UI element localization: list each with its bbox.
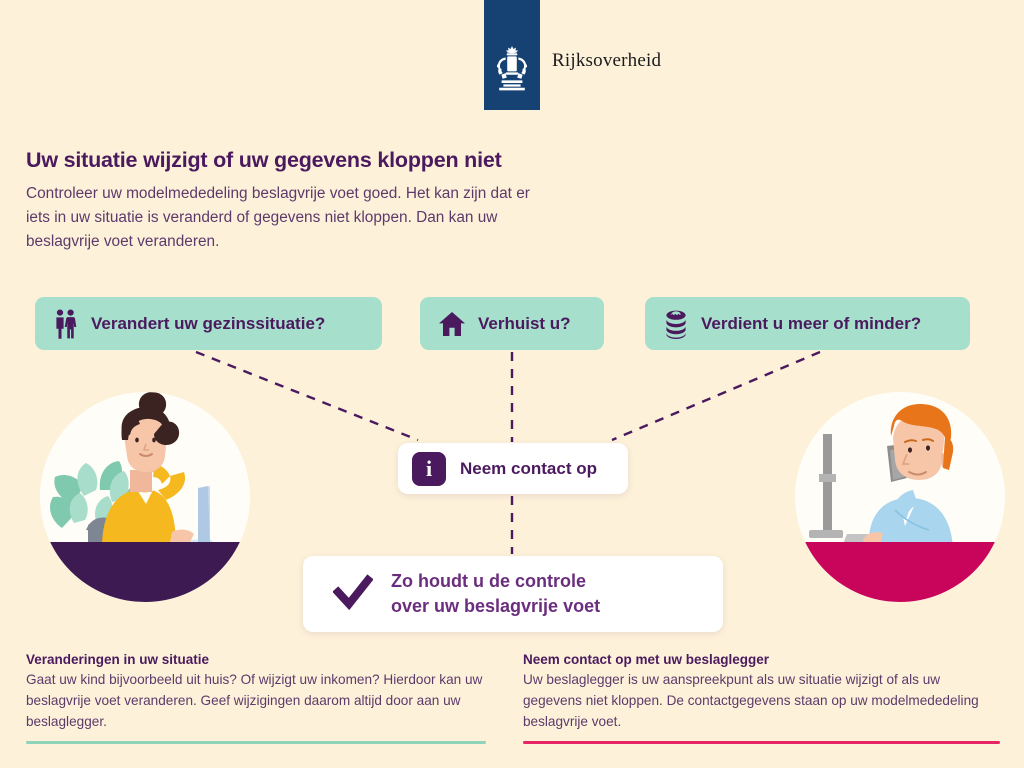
control-card[interactable]: Zo houdt u de controle over uw beslagvri… — [303, 556, 723, 632]
footer-heading: Veranderingen in uw situatie — [26, 652, 486, 667]
topic-pill-label: Verdient u meer of minder? — [701, 314, 921, 334]
family-people-icon — [53, 309, 79, 339]
footer-rule-right — [523, 741, 1000, 744]
footer-body: Uw beslaglegger is uw aanspreekpunt als … — [523, 669, 983, 732]
house-icon — [438, 311, 466, 337]
control-card-label: Zo houdt u de controle over uw beslagvri… — [391, 569, 600, 619]
contact-card[interactable]: i Neem contact op — [398, 443, 628, 494]
control-card-line2: over uw beslagvrije voet — [391, 594, 600, 619]
coin-stack-icon — [663, 309, 689, 339]
woman-on-phone-with-laptop-illustration — [40, 392, 250, 602]
brand-name: Rijksoverheid — [552, 50, 661, 72]
page-title: Uw situatie wijzigt of uw gegevens klopp… — [26, 148, 666, 173]
page-intro-text: Controleer uw modelmededeling beslagvrij… — [26, 182, 556, 254]
footer-block-contact: Neem contact op met uw beslaglegger Uw b… — [523, 652, 983, 732]
footer-block-changes: Veranderingen in uw situatie Gaat uw kin… — [26, 652, 486, 732]
footer-heading: Neem contact op met uw beslaglegger — [523, 652, 983, 667]
topic-pill-family[interactable]: Verandert uw gezinssituatie? — [35, 297, 382, 350]
topic-pill-income[interactable]: Verdient u meer of minder? — [645, 297, 970, 350]
dutch-coat-of-arms-icon — [492, 44, 532, 94]
contact-card-label: Neem contact op — [460, 459, 597, 479]
control-card-line1: Zo houdt u de controle — [391, 569, 600, 594]
checkmark-icon — [333, 574, 373, 614]
topic-pill-label: Verhuist u? — [478, 314, 571, 334]
info-icon: i — [412, 452, 446, 486]
man-on-phone-at-monitor-illustration — [795, 392, 1005, 602]
infographic-canvas: Rijksoverheid Uw situatie wijzigt of uw … — [0, 0, 1024, 768]
topic-pill-label: Verandert uw gezinssituatie? — [91, 314, 325, 334]
footer-body: Gaat uw kind bijvoorbeeld uit huis? Of w… — [26, 669, 486, 732]
topic-pill-moving[interactable]: Verhuist u? — [420, 297, 604, 350]
footer-rule-left — [26, 741, 486, 744]
